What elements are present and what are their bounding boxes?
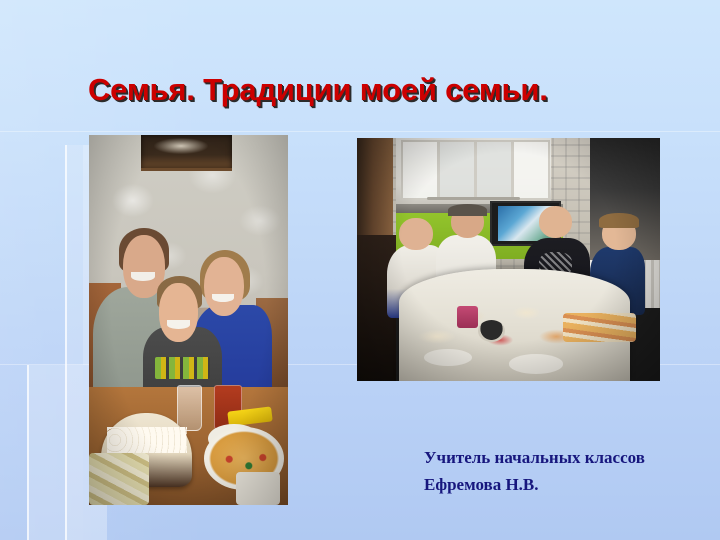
author-block: Учитель начальных классов Ефремова Н.В. xyxy=(424,444,704,498)
presentation-slide: Семья. Традиции моей семьи. xyxy=(0,0,720,540)
decor-band-lower-left xyxy=(27,365,83,540)
photo-vignette xyxy=(357,138,660,381)
family-photo-left xyxy=(89,135,288,505)
photo-right-content xyxy=(357,138,660,381)
photo-vignette xyxy=(89,135,288,505)
slide-title: Семья. Традиции моей семьи. xyxy=(88,72,658,108)
decor-rule-upper xyxy=(0,131,720,132)
family-photo-right xyxy=(357,138,660,381)
author-name: Ефремова Н.В. xyxy=(424,471,704,498)
decor-hairline-lower xyxy=(27,365,29,540)
author-role: Учитель начальных классов xyxy=(424,444,704,471)
photo-left-content xyxy=(89,135,288,505)
decor-band-middle xyxy=(65,145,83,540)
decor-hairline-tall xyxy=(65,145,67,540)
